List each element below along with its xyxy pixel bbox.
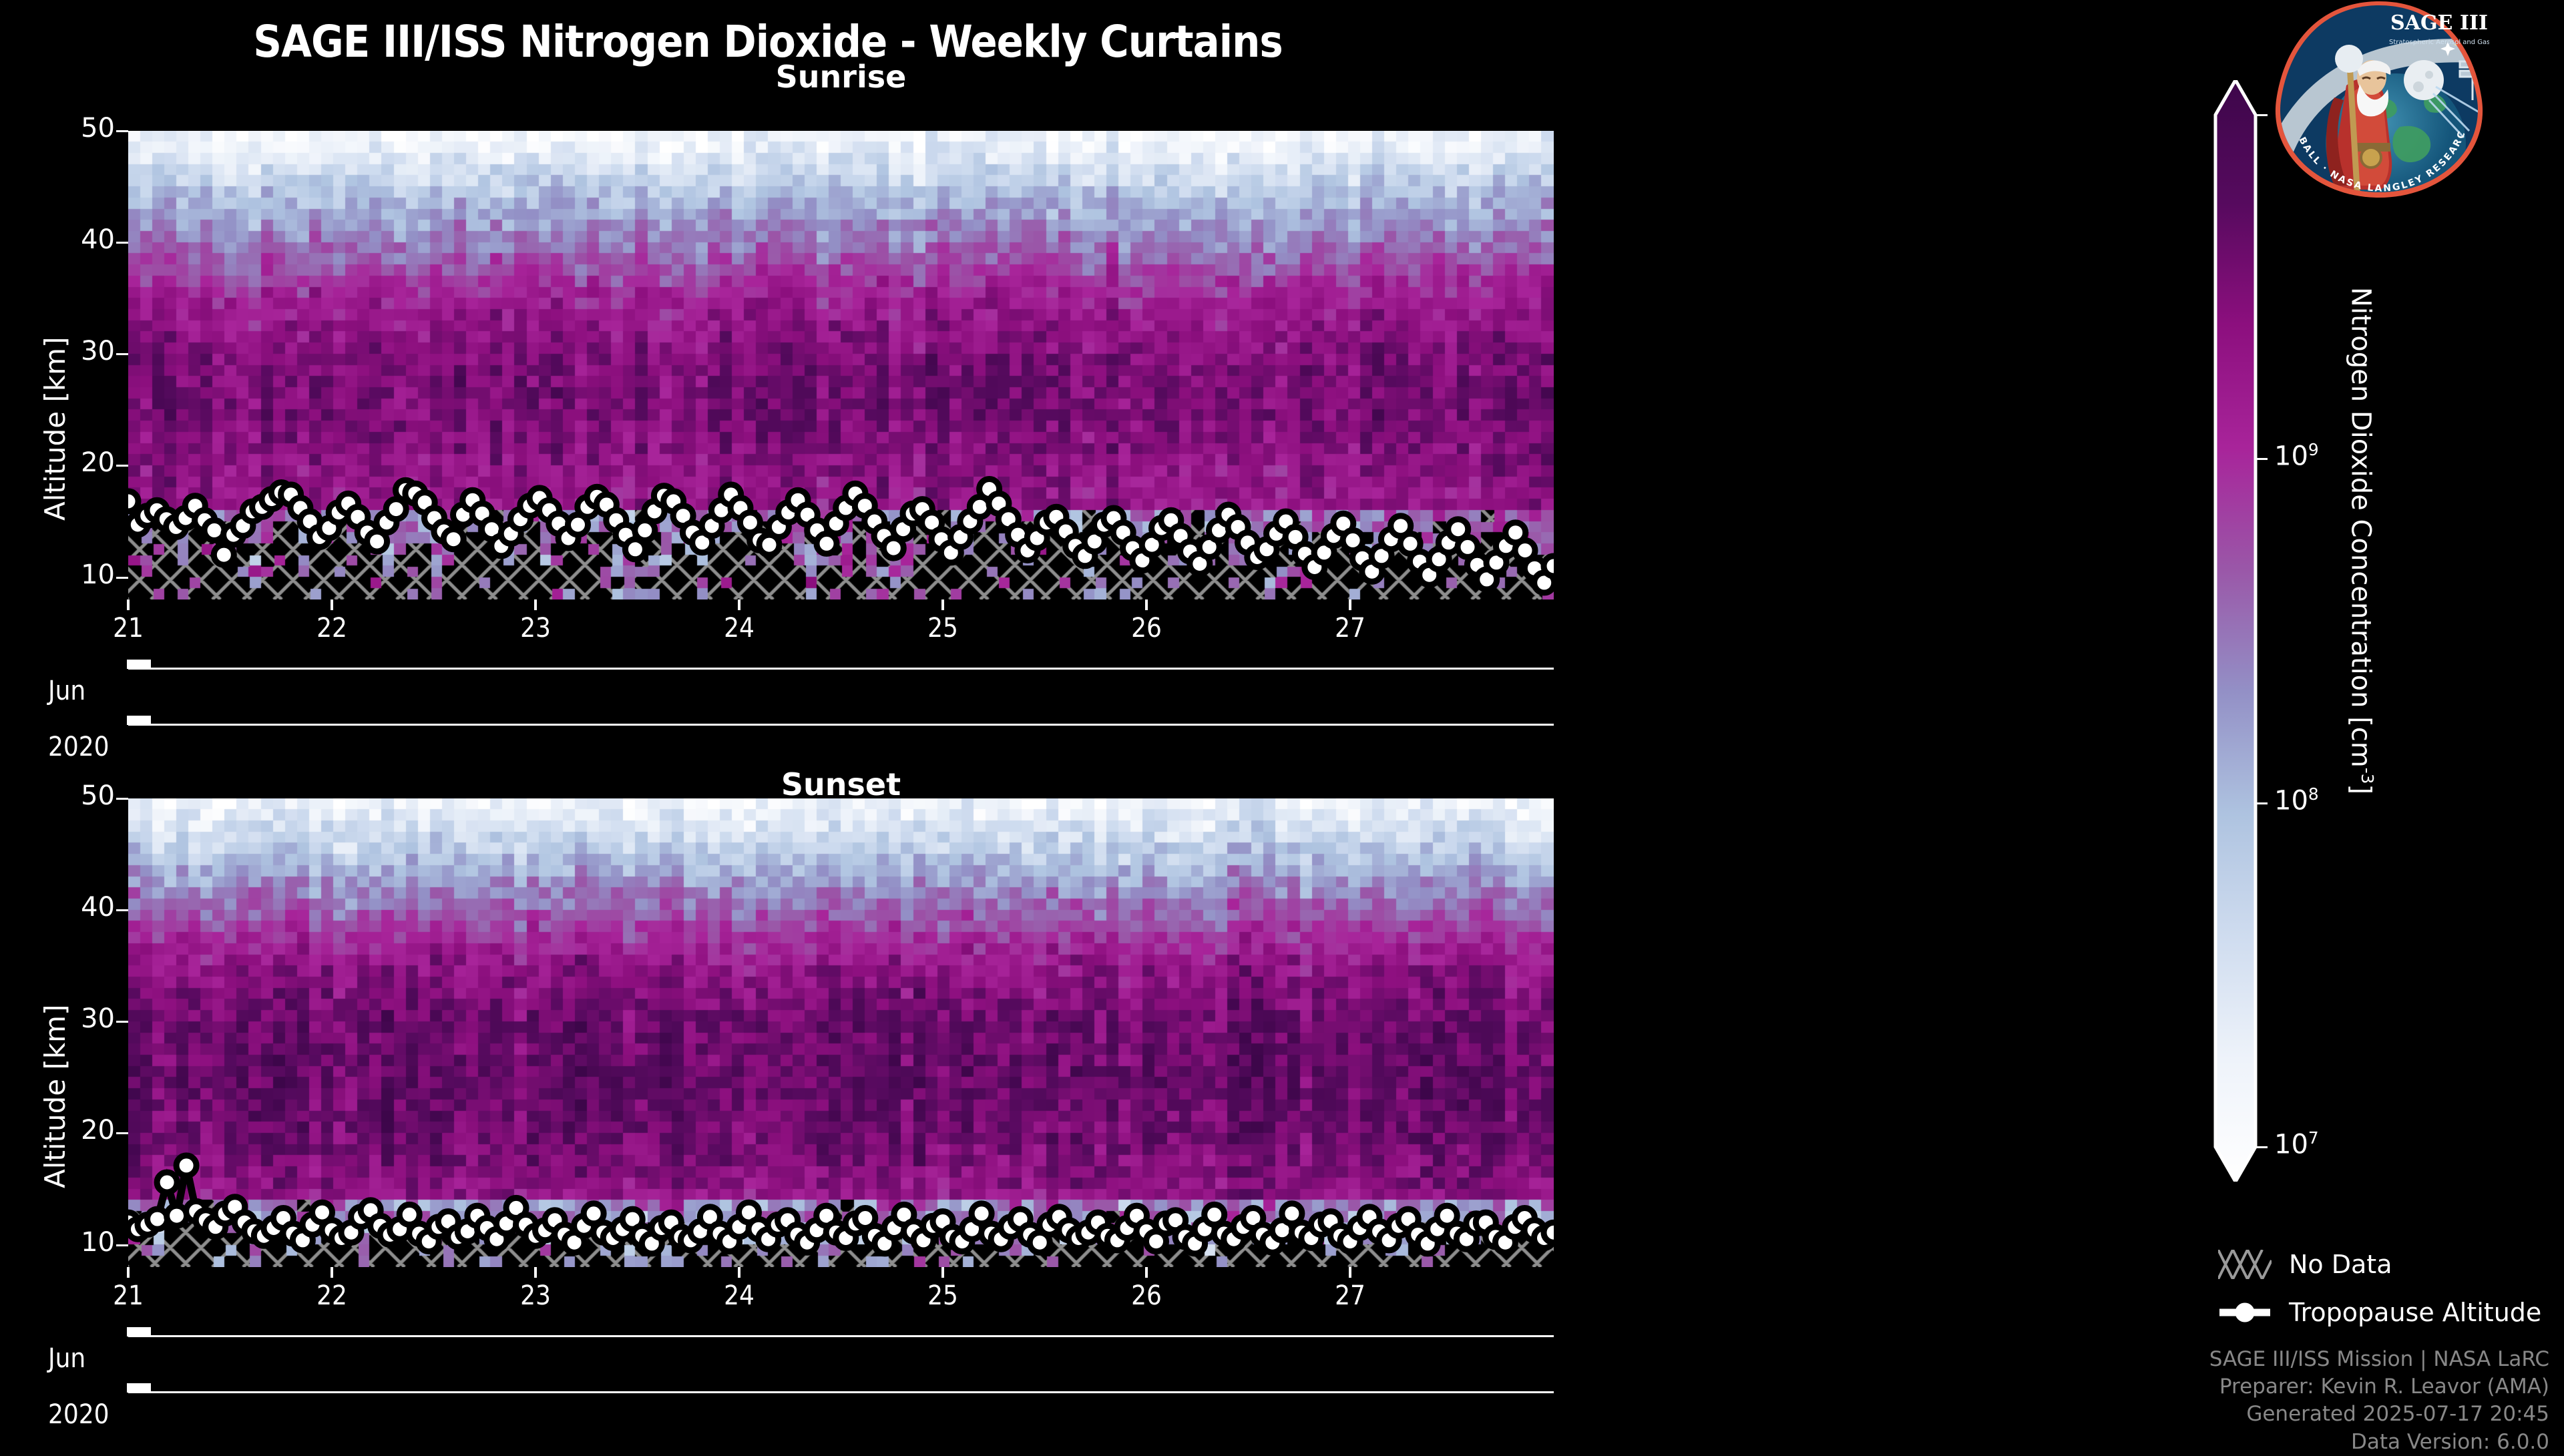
legend-label-tropopause: Tropopause Altitude: [2289, 1298, 2541, 1327]
y-tick-mark: [116, 577, 128, 579]
sage-iii-iss-mission-patch-logo: SAGE III Stratospheric Aerosol and Gas B…: [2269, 0, 2489, 200]
x-tick-mark: [738, 599, 740, 610]
x-tick-label: 21: [88, 1280, 168, 1311]
tropopause-marker: [817, 533, 837, 553]
colorbar-tick-label: 109: [2274, 440, 2319, 471]
x-tick-mark: [941, 599, 944, 610]
x-tick-label: 25: [903, 1280, 983, 1311]
colorbar-tick-mark: [2256, 802, 2268, 804]
x-level-month-rule: [128, 668, 1554, 670]
footer-line-mission: SAGE III/ISS Mission | NASA LaRC: [2209, 1346, 2549, 1373]
colorbar-label: Nitrogen Dioxide Concentration [cm-3]: [2346, 287, 2377, 794]
heatmap-sunrise[interactable]: [128, 131, 1554, 599]
tropopause-marker: [214, 545, 234, 565]
x-tick-label: 23: [495, 1280, 576, 1311]
y-tick-mark: [116, 1132, 128, 1134]
y-tick-mark: [116, 1021, 128, 1023]
x-tick-label: 22: [292, 1280, 372, 1311]
y-tick-label: 10: [53, 1227, 115, 1258]
colorbar-tick-label: 107: [2274, 1128, 2319, 1160]
y-tick-label: 30: [53, 336, 115, 367]
x-tick-mark: [1145, 599, 1148, 610]
panel-title-sunset: Sunset: [128, 766, 1554, 802]
x-tick-mark: [941, 1267, 944, 1278]
x-tick-mark: [1349, 1267, 1351, 1278]
colorbar-gradient: [2215, 80, 2256, 1182]
y-tick-label: 50: [53, 780, 115, 811]
tropopause-marker-icon: [2218, 1298, 2272, 1327]
footer-metadata: SAGE III/ISS Mission | NASA LaRC Prepare…: [2209, 1346, 2549, 1456]
y-tick-mark: [116, 798, 128, 800]
footer-line-generated: Generated 2025-07-17 20:45: [2209, 1401, 2549, 1428]
x-tick-mark: [534, 1267, 537, 1278]
tropopause-marker: [443, 529, 463, 549]
x-level-month-tick: [127, 1327, 151, 1337]
tropopause-marker: [1544, 1222, 1554, 1242]
y-tick-mark: [116, 130, 128, 132]
heatmap-sunset[interactable]: [128, 798, 1554, 1267]
legend-item-no-data[interactable]: No Data: [2218, 1250, 2392, 1279]
x-level-month-tick: [127, 660, 151, 669]
panel-title-sunrise: Sunrise: [128, 59, 1554, 95]
x-tick-label: 23: [495, 613, 576, 644]
x-tick-mark: [331, 1267, 333, 1278]
x-tick-mark: [127, 599, 130, 610]
x-tick-label: 26: [1106, 613, 1187, 644]
colorbar-tick-mark: [2256, 114, 2268, 116]
x-level-month-label: Jun: [48, 676, 85, 706]
patch-title: SAGE III: [2390, 11, 2488, 35]
y-tick-label: 50: [53, 113, 115, 144]
x-tick-label: 22: [292, 613, 372, 644]
tropopause-marker: [1544, 556, 1554, 576]
x-tick-mark: [331, 599, 333, 610]
y-tick-mark: [116, 242, 128, 244]
tropopause-marker: [157, 1172, 177, 1192]
x-tick-label: 24: [699, 1280, 779, 1311]
y-tick-label: 10: [53, 559, 115, 590]
colorbar-tick-mark: [2256, 458, 2268, 460]
x-tick-label: 25: [903, 613, 983, 644]
y-tick-mark: [116, 353, 128, 355]
y-tick-mark: [116, 465, 128, 467]
tropopause-marker: [176, 1156, 196, 1176]
x-level-year-tick: [127, 1383, 151, 1393]
x-tick-label: 27: [1310, 613, 1390, 644]
legend-label-no-data: No Data: [2289, 1250, 2392, 1279]
y-tick-label: 40: [53, 224, 115, 255]
y-tick-mark: [116, 909, 128, 911]
x-tick-label: 27: [1310, 1280, 1390, 1311]
y-tick-label: 30: [53, 1003, 115, 1034]
y-tick-label: 20: [53, 1115, 115, 1146]
colorbar-tick-mark: [2256, 1146, 2268, 1148]
footer-line-preparer: Preparer: Kevin R. Leavor (AMA): [2209, 1373, 2549, 1401]
x-level-month-label: Jun: [48, 1343, 85, 1374]
colorbar-tick-label: 108: [2274, 784, 2319, 816]
tropopause-marker: [972, 1204, 992, 1224]
x-tick-mark: [127, 1267, 130, 1278]
x-level-year-tick: [127, 716, 151, 725]
y-tick-label: 20: [53, 447, 115, 478]
x-level-year-label: 2020: [48, 1399, 110, 1430]
colorbar[interactable]: [2203, 80, 2284, 1182]
x-tick-mark: [738, 1267, 740, 1278]
patch-subtitle: Stratospheric Aerosol and Gas: [2389, 39, 2489, 46]
x-tick-label: 26: [1106, 1280, 1187, 1311]
hatch-swatch-icon: [2218, 1250, 2272, 1279]
y-tick-label: 40: [53, 892, 115, 923]
y-tick-mark: [116, 1244, 128, 1246]
x-level-year-rule: [128, 1391, 1554, 1393]
x-tick-label: 24: [699, 613, 779, 644]
x-tick-mark: [1145, 1267, 1148, 1278]
x-tick-mark: [1349, 599, 1351, 610]
patch-moon: [2404, 60, 2444, 100]
footer-line-version: Data Version: 6.0.0: [2209, 1429, 2549, 1456]
legend-item-tropopause[interactable]: Tropopause Altitude: [2218, 1298, 2541, 1327]
x-level-month-rule: [128, 1335, 1554, 1337]
x-level-year-rule: [128, 724, 1554, 726]
x-tick-mark: [534, 599, 537, 610]
x-tick-label: 21: [88, 613, 168, 644]
x-level-year-label: 2020: [48, 732, 110, 762]
